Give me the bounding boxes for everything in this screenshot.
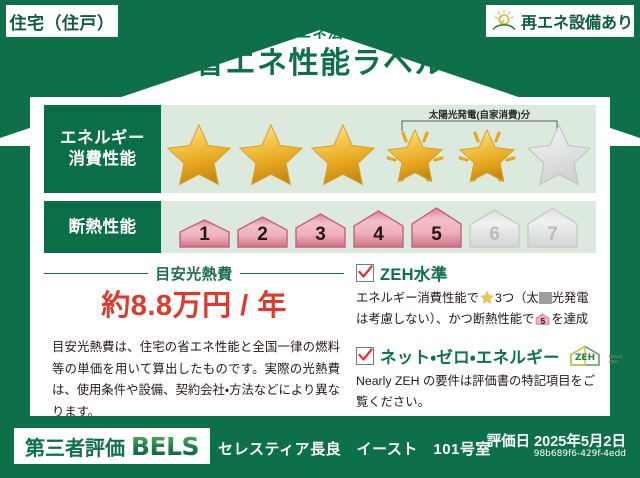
star-3 <box>308 120 378 186</box>
bels-jp-label: 第三者評価 <box>25 432 125 461</box>
star-5-solar <box>452 120 522 186</box>
sun-landscape-icon <box>491 9 517 33</box>
inline-star-icon <box>480 290 494 304</box>
utility-cost-note: 目安光熱費は、住宅の省エネ性能と全国一律の燃料等の単価を用いて算出したものです。… <box>44 337 344 423</box>
renewable-badge-label: 再エネ設備あり <box>521 9 633 33</box>
insulation-levels-field: 1 2 3 <box>161 201 596 253</box>
net-zero-title: ネット・ゼロ・エネルギー <box>380 344 560 368</box>
bels-en-label: BELS <box>131 432 199 461</box>
label-body-panel: エネルギー 消費性能 太陽光発電(自家消費)分 <box>30 97 610 417</box>
star-rating-group <box>161 105 596 193</box>
insulation-level-4-number: 4 <box>350 225 407 244</box>
insulation-level-2-number: 2 <box>234 225 291 244</box>
zeh-logo-subtext: Nearly ZEH <box>609 354 622 364</box>
zeh-standard-checkbox <box>356 264 374 282</box>
star-1 <box>164 120 234 186</box>
utility-cost-heading: 目安光熱費 <box>44 263 344 284</box>
net-zero-desc: Nearly ZEH の要件は評価書の特記項目をご覧ください。 <box>356 371 596 413</box>
insulation-level-3-number: 3 <box>292 225 349 244</box>
inline-house-level-icon: 5 <box>535 312 550 326</box>
star-2 <box>236 120 306 186</box>
evaluation-date: 評価日 2025年5月2日 <box>487 430 626 451</box>
zeh-logo-icon: ZEH <box>568 345 602 367</box>
insulation-level-4: 4 <box>350 208 407 249</box>
housing-type-label: 住宅（住戸） <box>10 9 115 34</box>
svg-text:ZEH: ZEH <box>575 353 595 363</box>
energy-stars-field: 太陽光発電(自家消費)分 <box>161 105 596 193</box>
zeh-block: ZEH水準 エネルギー消費性能で3つ（太光発電は考慮しない）、かつ断熱性能で5を… <box>356 261 596 413</box>
insulation-performance-row: 断熱性能 <box>44 201 596 253</box>
bels-badge: 第三者評価 BELS <box>14 428 210 464</box>
details-section: 目安光熱費 約8.8万円 / 年 目安光熱費は、住宅の省エネ性能と全国一律の燃料… <box>44 261 596 409</box>
rule-right <box>240 273 344 274</box>
zeh-standard-title: ZEH水準 <box>380 261 448 285</box>
redacted-character <box>539 292 552 304</box>
housing-type-badge: 住宅（住戸） <box>6 5 118 37</box>
energy-label-root: 建築物省エネ法に基づく 省エネ性能ラベル 住宅（住戸） 再エネ設備あり エネルギ… <box>0 0 640 478</box>
insulation-level-6: 6 <box>466 207 523 249</box>
insulation-performance-label: 断熱性能 <box>44 201 161 253</box>
evaluation-id: 98b689f6-429f-4edd <box>534 449 626 459</box>
label-footer: 第三者評価 BELS セレスティア長良 イースト 101号室 評価日 2025年… <box>0 416 640 478</box>
star-4-solar <box>380 120 450 186</box>
net-zero-energy-block: ネット・ゼロ・エネルギー ZEH Nearly ZEH <box>356 344 596 413</box>
insulation-level-1-number: 1 <box>176 225 233 244</box>
energy-performance-row: エネルギー 消費性能 太陽光発電(自家消費)分 <box>44 105 596 193</box>
insulation-level-6-number: 6 <box>466 225 523 244</box>
renewable-energy-badge: 再エネ設備あり <box>486 5 634 37</box>
insulation-level-group: 1 2 3 <box>161 201 596 253</box>
insulation-level-1: 1 <box>176 217 233 249</box>
energy-performance-label: エネルギー 消費性能 <box>44 105 161 193</box>
utility-cost-block: 目安光熱費 約8.8万円 / 年 目安光熱費は、住宅の省エネ性能と全国一律の燃料… <box>44 261 344 423</box>
check-icon <box>358 348 373 363</box>
utility-cost-label: 目安光熱費 <box>155 263 233 284</box>
star-6-empty <box>524 120 594 186</box>
zeh-standard-desc: エネルギー消費性能で3つ（太光発電は考慮しない）、かつ断熱性能で5を達成 <box>356 288 596 330</box>
insulation-level-5-number: 5 <box>408 225 465 244</box>
net-zero-heading: ネット・ゼロ・エネルギー ZEH Nearly ZEH <box>356 344 596 368</box>
insulation-level-7-number: 7 <box>524 225 581 244</box>
net-zero-checkbox <box>356 347 374 365</box>
zeh-standard-heading: ZEH水準 <box>356 261 596 285</box>
utility-cost-value: 約8.8万円 / 年 <box>44 290 344 323</box>
insulation-level-2: 2 <box>234 214 291 249</box>
insulation-level-5: 5 <box>408 205 465 249</box>
rule-left <box>44 273 148 274</box>
property-name: セレスティア長良 イースト 101号室 <box>218 438 491 459</box>
insulation-level-7: 7 <box>524 205 581 249</box>
check-icon <box>358 265 373 280</box>
insulation-level-3: 3 <box>292 211 349 249</box>
